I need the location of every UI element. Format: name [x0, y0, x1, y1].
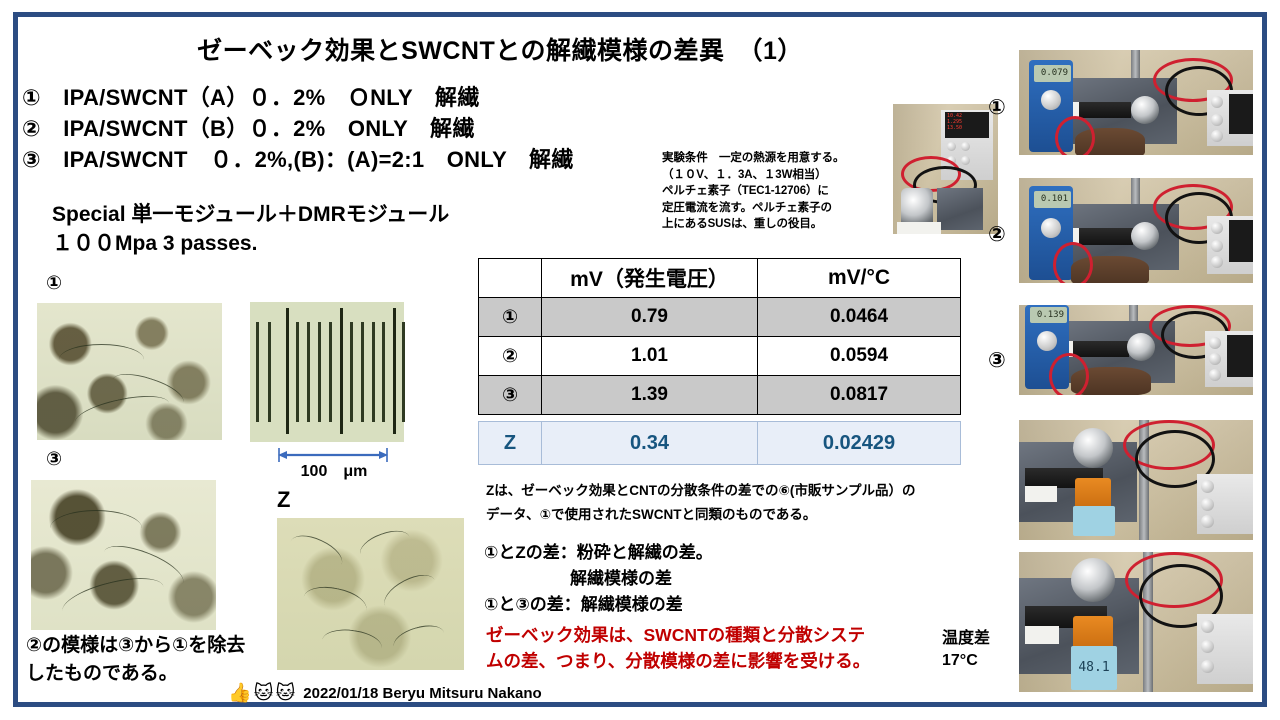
table-cell-label: ③: [479, 376, 542, 415]
table-row-z: Z 0.34 0.02429: [479, 422, 961, 465]
photo-label-1: ①: [988, 95, 1006, 120]
conclusion-line2: ムの差、つまり、分散模様の差に影響を受ける。: [486, 648, 936, 674]
micrograph-label-z: Z: [277, 487, 290, 513]
table-row: ① 0.79 0.0464: [479, 298, 961, 337]
difference-line3: ①と③の差：解繊模様の差: [484, 592, 944, 618]
scale-calibration-image: [250, 302, 404, 442]
measurement-photo-1: 0.079: [1019, 50, 1253, 155]
temperature-difference: 温度差 17°C: [942, 628, 990, 672]
experiment-conditions-line2: （１０V、１．3A、１3W相当）: [662, 167, 894, 184]
experiment-conditions-note: 実験条件 一定の熱源を用意する。 （１０V、１．3A、１3W相当） ペルチェ素子…: [662, 150, 894, 233]
experiment-conditions-line5: 上にあるSUSは、重しの役目。: [662, 216, 894, 233]
table-header-blank: [479, 259, 542, 298]
multimeter-reading-2: 0.101: [1034, 191, 1071, 208]
micrograph-image-1: [37, 303, 222, 440]
psu-display: 10.42 1.295 13.50: [945, 112, 989, 138]
setup-overview-photo: 10.42 1.295 13.50: [893, 104, 998, 234]
table-row: ② 1.01 0.0594: [479, 337, 961, 376]
condition-item-3: ③ IPA/SWCNT ０．2%,(B)：(A)=2:1 ONLY 解繊: [22, 144, 682, 175]
z-reference-table: Z 0.34 0.02429: [478, 421, 961, 465]
table-cell-mvc: 0.0817: [758, 376, 961, 415]
experiment-conditions-line1: 実験条件 一定の熱源を用意する。: [662, 150, 894, 167]
table-cell-mv: 1.39: [542, 376, 758, 415]
table-cell-mv: 1.01: [542, 337, 758, 376]
table-cell-mv: 0.79: [542, 298, 758, 337]
table-header-mvc: mV/°C: [758, 259, 961, 298]
conclusion-line1: ゼーベック効果は、SWCNTの種類と分散システ: [486, 622, 936, 648]
thumbs-up-and-cat-icons: 👍🐱🐱: [228, 681, 297, 705]
table-header-row: mV（発生電圧） mV/°C: [479, 259, 961, 298]
z-mvc: 0.02429: [758, 422, 961, 465]
temperature-difference-label: 温度差: [942, 628, 990, 650]
special-module-line2: １００Mpa 3 passes.: [52, 229, 672, 258]
micrograph-image-3: [31, 480, 216, 630]
condition-item-2: ② IPA/SWCNT（B）０．2% ONLY 解繊: [22, 113, 682, 144]
z-explanation: Zは、ゼーベック効果とCNTの分散条件の差での⑥(市販サンプル品）の データ、①…: [486, 479, 956, 527]
condition-list: ① IPA/SWCNT（A）０．2% ＯNLY 解繊 ② IPA/SWCNT（B…: [22, 82, 682, 175]
bottom-left-note-line2: したものである。: [26, 660, 256, 688]
page-title: ゼーベック効果とSWCNTとの解繊模様の差異 （1）: [0, 31, 1000, 67]
micrograph-image-z: [277, 518, 464, 670]
z-explanation-line2: データ、①で使用されたSWCNTと同類のものである。: [486, 503, 956, 527]
multimeter-reading-3: 0.139: [1030, 307, 1067, 323]
photo-label-2: ②: [988, 222, 1006, 247]
results-table: mV（発生電圧） mV/°C ① 0.79 0.0464 ② 1.01 0.05…: [478, 258, 961, 415]
table-cell-mvc: 0.0464: [758, 298, 961, 337]
measurement-photo-2: 0.101: [1019, 178, 1253, 283]
temperature-difference-value: 17°C: [942, 650, 990, 672]
conclusion-text: ゼーベック効果は、SWCNTの種類と分散システ ムの差、つまり、分散模様の差に影…: [486, 622, 936, 674]
table-cell-mvc: 0.0594: [758, 337, 961, 376]
measurement-photo-3: 0.139: [1019, 305, 1253, 395]
scale-bar-label: 100 μm: [278, 457, 390, 481]
difference-line1: ①とZの差：粉砕と解繊の差。: [484, 540, 944, 566]
differences-block: ①とZの差：粉砕と解繊の差。 解繊模様の差 ①と③の差：解繊模様の差: [484, 540, 944, 618]
experiment-conditions-line3: ペルチェ素子（TEC1-12706）に: [662, 183, 894, 200]
experiment-conditions-line4: 定圧電流を流す。ペルチェ素子の: [662, 200, 894, 217]
photo-label-3: ③: [988, 348, 1006, 373]
micrograph-label-3: ③: [46, 448, 62, 471]
bottom-left-note: ②の模様は③から①を除去 したものである。: [26, 632, 256, 688]
condition-item-1: ① IPA/SWCNT（A）０．2% ＯNLY 解繊: [22, 82, 682, 113]
z-explanation-line1: Zは、ゼーベック効果とCNTの分散条件の差での⑥(市販サンプル品）の: [486, 479, 956, 503]
slide-canvas: ゼーベック効果とSWCNTとの解繊模様の差異 （1） ① IPA/SWCNT（A…: [0, 0, 1280, 720]
table-cell-label: ②: [479, 337, 542, 376]
footer: 👍🐱🐱 2022/01/18 Beryu Mitsuru Nakano: [228, 681, 542, 705]
table-cell-label: ①: [479, 298, 542, 337]
thermometer-photo-2: 48.1: [1019, 552, 1253, 692]
multimeter-reading-1: 0.079: [1034, 65, 1071, 82]
z-mv: 0.34: [542, 422, 758, 465]
table-row: ③ 1.39 0.0817: [479, 376, 961, 415]
special-module-block: Special 単一モジュール＋DMRモジュール １００Mpa 3 passes…: [52, 200, 672, 258]
table-header-mv: mV（発生電圧）: [542, 259, 758, 298]
thermometer-photo-1: [1019, 420, 1253, 540]
footer-credit: 2022/01/18 Beryu Mitsuru Nakano: [303, 685, 541, 702]
bottom-left-note-line1: ②の模様は③から①を除去: [26, 632, 256, 660]
thermometer-reading: 48.1: [1071, 646, 1117, 690]
z-label: Z: [479, 422, 542, 465]
special-module-line1: Special 単一モジュール＋DMRモジュール: [52, 200, 672, 229]
micrograph-label-1: ①: [46, 272, 62, 295]
difference-line2: 解繊模様の差: [484, 566, 944, 592]
